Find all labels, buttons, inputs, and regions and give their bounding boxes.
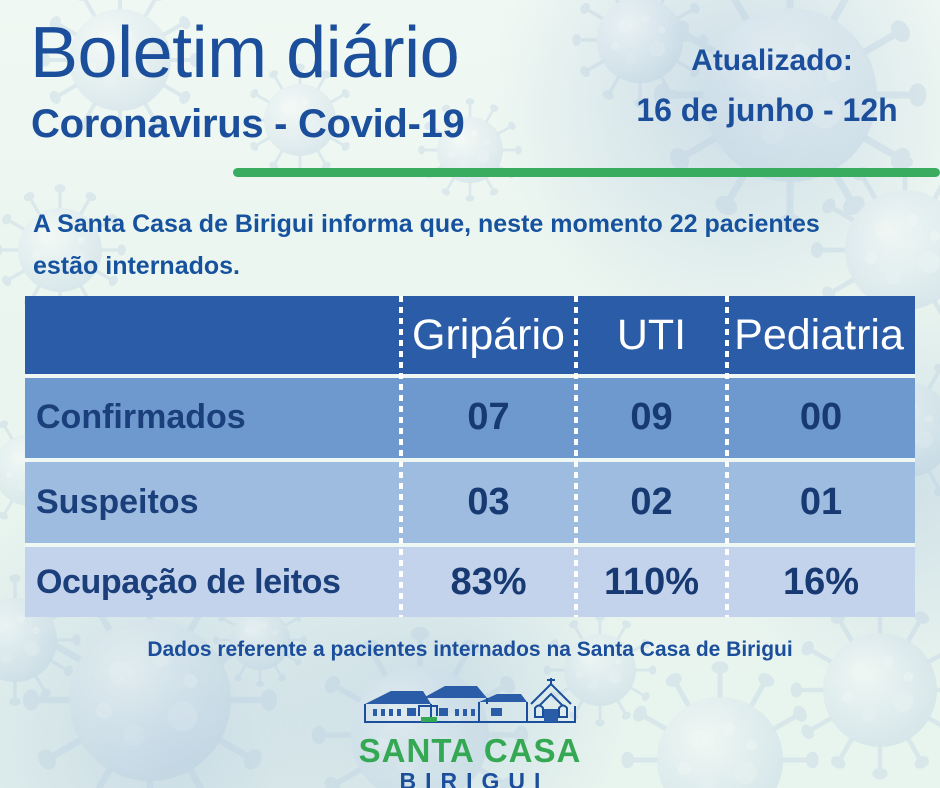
column-header-pediatria: Pediatria (727, 296, 915, 374)
cell-suspeitos-pediatria: 01 (727, 462, 915, 543)
cell-confirmados-uti: 09 (576, 377, 727, 458)
row-divider (25, 374, 915, 378)
cell-suspeitos-gripario: 03 (401, 462, 576, 543)
row-divider (25, 458, 915, 462)
column-header-uti: UTI (576, 296, 727, 374)
table-header-row: Gripário UTI Pediatria (25, 296, 915, 374)
column-divider (574, 296, 578, 617)
updated-date: 16 de junho - 12h (594, 92, 940, 129)
poster-root: Boletim diário Coronavirus - Covid-19 At… (0, 0, 940, 788)
page-subtitle: Coronavirus - Covid-19 (31, 101, 464, 147)
cell-confirmados-gripario: 07 (401, 377, 576, 458)
table-corner-cell (25, 296, 401, 374)
table-row: Ocupação de leitos 83% 110% 16% (25, 547, 915, 617)
cell-ocupacao-pediatria: 16% (727, 547, 915, 617)
cell-confirmados-pediatria: 00 (727, 377, 915, 458)
divider-rule (233, 168, 940, 177)
row-label-suspeitos: Suspeitos (25, 462, 401, 543)
cell-suspeitos-uti: 02 (576, 462, 727, 543)
updated-label: Atualizado: (604, 44, 940, 78)
hospital-building-icon (361, 676, 579, 732)
poster-header: Boletim diário Coronavirus - Covid-19 At… (0, 0, 940, 186)
row-label-ocupacao: Ocupação de leitos (25, 547, 401, 617)
row-divider (25, 543, 915, 547)
cell-ocupacao-gripario: 83% (401, 547, 576, 617)
column-header-gripario: Gripário (401, 296, 576, 374)
row-label-confirmados: Confirmados (25, 377, 401, 458)
table-row: Suspeitos 03 02 01 (25, 462, 915, 543)
hospitalization-table: Gripário UTI Pediatria Confirmados 07 09… (25, 296, 915, 617)
santa-casa-logo: SANTA CASA BIRIGUI (0, 676, 940, 788)
column-divider (725, 296, 729, 617)
logo-name: SANTA CASA (0, 734, 940, 768)
logo-city: BIRIGUI (0, 769, 940, 788)
table-row: Confirmados 07 09 00 (25, 377, 915, 458)
cell-ocupacao-uti: 110% (576, 547, 727, 617)
intro-text: A Santa Casa de Birigui informa que, nes… (33, 203, 863, 287)
page-title: Boletim diário (30, 14, 459, 92)
column-divider (399, 296, 403, 617)
footer-note: Dados referente a pacientes internados n… (0, 638, 940, 662)
